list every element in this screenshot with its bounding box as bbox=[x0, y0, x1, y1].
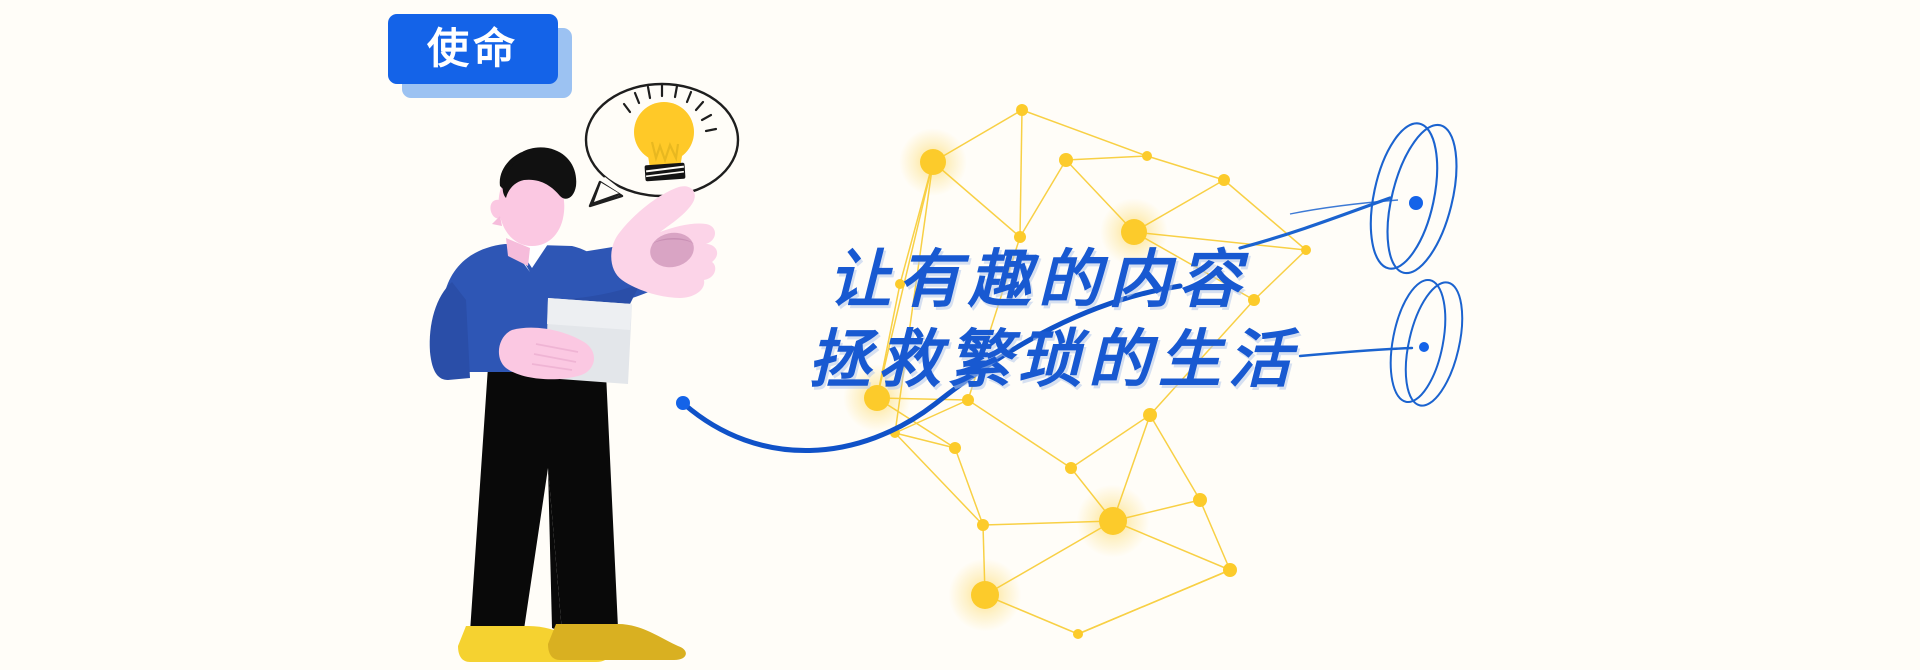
mission-badge-card: 使命 bbox=[388, 14, 558, 84]
mission-badge: 使命 bbox=[388, 14, 572, 98]
pointing-hand bbox=[611, 186, 717, 298]
mission-badge-label: 使命 bbox=[427, 28, 519, 70]
banner-canvas: 让有趣的内容 拯救繁琐的生活 使命 bbox=[0, 0, 1920, 670]
trousers bbox=[470, 352, 618, 636]
person-illustration bbox=[0, 0, 1920, 670]
shoes bbox=[458, 624, 686, 662]
